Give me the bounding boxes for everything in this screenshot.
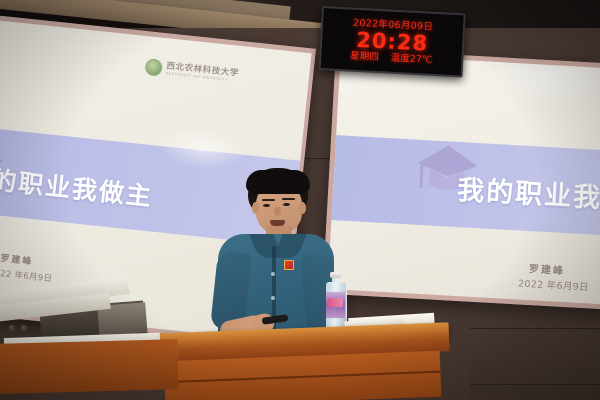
hair-fringe bbox=[246, 170, 310, 194]
right-slide-date: 2022 年6月9日 bbox=[518, 276, 589, 294]
bottle-cap bbox=[330, 272, 341, 278]
right-projection-screen: 我的职业我做主 罗建峰 2022 年6月9日 bbox=[322, 48, 600, 310]
university-seal-icon bbox=[144, 58, 163, 77]
console-knob-2[interactable] bbox=[21, 325, 29, 333]
ear-right bbox=[299, 202, 306, 214]
led-time: 20:28 bbox=[356, 29, 429, 54]
eye-right bbox=[283, 203, 290, 206]
left-slide-date: 2022 年6月9日 bbox=[0, 266, 53, 285]
console-knob-1[interactable] bbox=[8, 325, 16, 333]
wall-seam-2 bbox=[470, 328, 600, 329]
bottle-label-accent bbox=[328, 298, 343, 307]
party-emblem-pin bbox=[284, 260, 294, 270]
led-clock-inner: 2022年06月09日 20:28 星期四 温度27℃ bbox=[323, 10, 462, 73]
nose bbox=[274, 207, 281, 216]
shirt-button-1 bbox=[271, 272, 275, 276]
ear-left bbox=[252, 202, 259, 214]
university-logo: 西北农林科技大学 NORTHWEST A&F UNIVERSITY bbox=[144, 58, 239, 85]
screenshot-root: 西北农林科技大学 NORTHWEST A&F UNIVERSITY 我的职业我做… bbox=[0, 0, 600, 400]
shirt-button-2 bbox=[271, 296, 275, 300]
console-front-panel bbox=[0, 339, 179, 394]
led-clock-display: 2022年06月09日 20:28 星期四 温度27℃ bbox=[319, 6, 466, 77]
wooden-podium bbox=[149, 322, 452, 400]
led-temperature: 温度27℃ bbox=[391, 53, 433, 65]
right-slide-presenter: 罗建峰 bbox=[529, 260, 566, 277]
left-slide-presenter: 罗建峰 bbox=[0, 251, 34, 267]
led-weekday: 星期四 bbox=[350, 51, 379, 62]
equipment-console-cabinet bbox=[0, 277, 168, 400]
eye-left bbox=[263, 204, 270, 207]
wall-seam-3 bbox=[470, 384, 600, 385]
right-screen-surface: 我的职业我做主 罗建峰 2022 年6月9日 bbox=[328, 53, 600, 304]
water-bottle bbox=[326, 272, 345, 334]
